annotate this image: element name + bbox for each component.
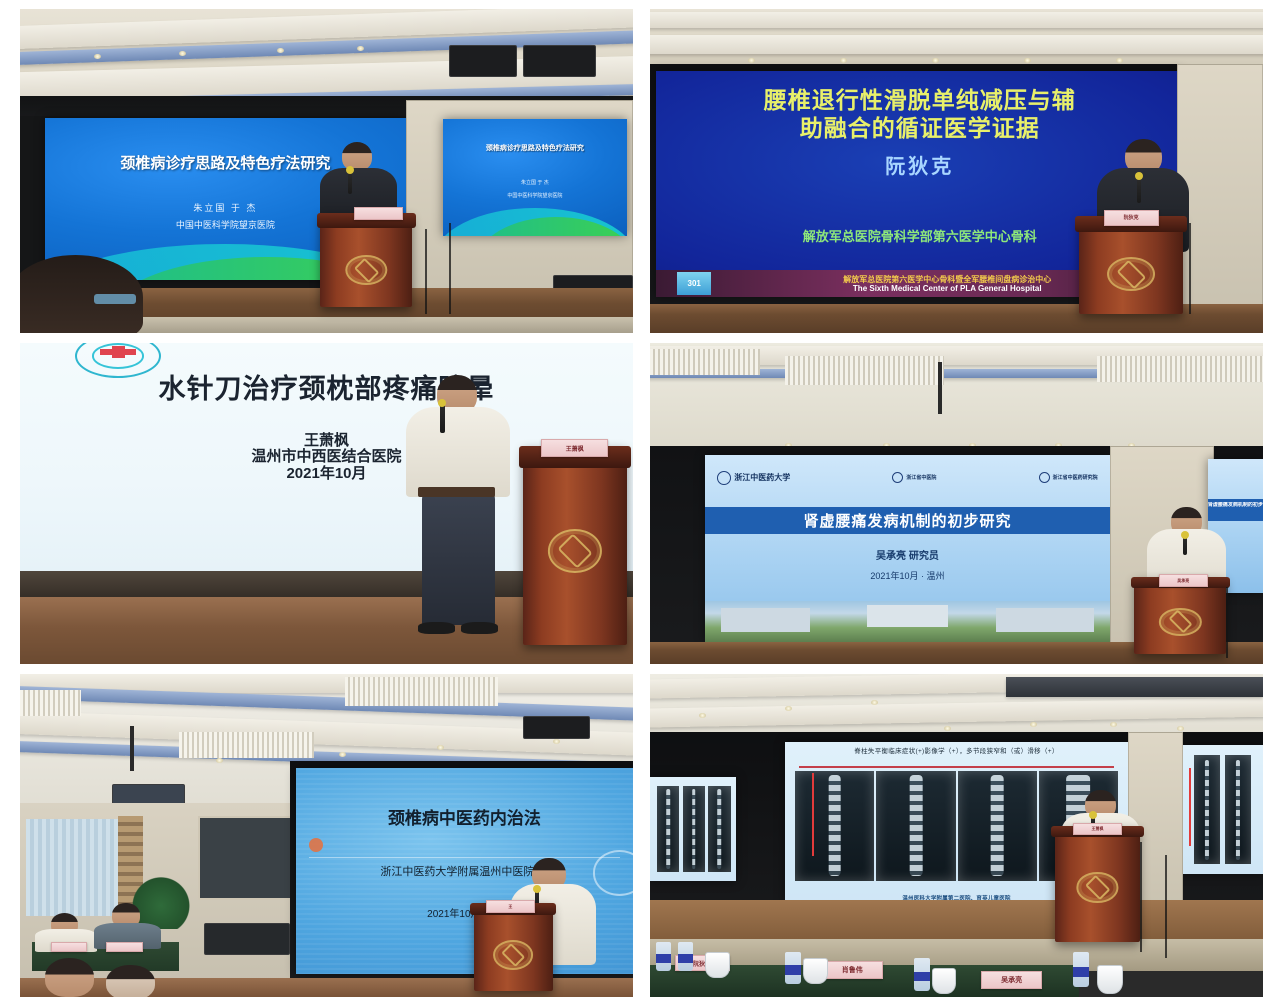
floor-speaker	[204, 923, 290, 955]
slide-title: 腰椎退行性滑脱单纯减压与辅 助融合的循证医学证据	[656, 86, 1183, 142]
water-bottle	[785, 952, 801, 984]
podium-namecard: 阮狄克	[1104, 210, 1159, 226]
cable	[1226, 587, 1257, 658]
podium-namecard: 吴承亮	[1159, 574, 1208, 587]
presenter-trousers	[422, 491, 496, 626]
slide-underline	[799, 766, 1115, 768]
podium	[474, 903, 554, 990]
side-monitor: 颈椎病诊疗思路及特色疗法研究 朱立国 于 杰 中国中医科学院望京医院	[443, 119, 627, 236]
ceiling-beam	[650, 35, 1263, 54]
ceiling-speaker	[523, 45, 597, 77]
slide-divider	[309, 857, 619, 858]
title-band: 肾虚腰痛发病机制的初步研究	[705, 507, 1110, 533]
photo-panel-2[interactable]: 腰椎退行性滑脱单纯减压与辅 助融合的循证医学证据 阮狄克 解放军总医院骨科学部第…	[650, 9, 1263, 333]
tea-cup	[803, 958, 828, 984]
belt	[418, 487, 495, 497]
window-curtain	[26, 819, 130, 916]
tea-cup	[1097, 965, 1123, 994]
ceiling-speaker	[523, 716, 590, 739]
microphone-icon	[348, 171, 352, 194]
photo-panel-3[interactable]: 水针刀治疗颈枕部疼痛眩晕 王萧枫 温州市中西医结合医院 2021年10月 王萧枫	[20, 343, 633, 664]
podium-namecard	[354, 207, 403, 220]
downlight-icon	[932, 58, 939, 63]
podium-emblem-icon	[1107, 257, 1155, 291]
ceiling-beam	[650, 12, 1263, 28]
side-monitor-title: 颈椎病诊疗思路及特色疗法研究	[443, 145, 627, 154]
podium-emblem-icon	[548, 529, 602, 573]
audience-namecard	[106, 942, 143, 952]
downlight-icon	[1116, 58, 1123, 63]
foreground-audience-head	[45, 958, 94, 997]
shoe	[418, 622, 455, 633]
photo-panel-1[interactable]: 颈椎病诊疗思路及特色疗法研究 朱立国 于 杰 中国中医科学院望京医院 颈椎病诊疗…	[20, 9, 633, 333]
downlight-icon	[748, 58, 755, 63]
ceiling-light-fixture	[20, 690, 81, 716]
downlight-icon	[699, 713, 706, 718]
audience-namecard	[51, 942, 88, 952]
downlight-icon	[339, 752, 346, 757]
podium	[523, 446, 627, 645]
podium-emblem-icon	[494, 940, 534, 970]
institute-logo-icon	[1039, 472, 1050, 483]
podium	[320, 213, 412, 307]
water-bottle	[656, 942, 671, 971]
table-namecard: 肖鲁伟	[822, 961, 883, 979]
ceiling-beam	[1006, 677, 1263, 696]
downlight-icon	[1024, 58, 1031, 63]
downlight-icon	[437, 745, 444, 750]
water-bottle	[678, 942, 693, 971]
slide-title: 颈椎病中医药内治法	[296, 809, 633, 830]
cable	[1189, 223, 1220, 314]
ceiling-speaker	[449, 45, 516, 77]
downlight-icon	[944, 726, 951, 731]
ceiling-light-fixture	[345, 677, 498, 706]
foreground-audience-head	[106, 965, 155, 997]
footer-badge: 301	[677, 272, 711, 295]
ceiling-light-fixture	[179, 732, 314, 758]
cable	[1165, 855, 1208, 958]
main-led-screen: 浙江中医药大学 浙江省中医院 浙江省中医药研究院 肾虚腰痛发病机制的初步研究 吴…	[705, 455, 1110, 641]
photo-collage: 颈椎病诊疗思路及特色疗法研究 朱立国 于 杰 中国中医科学院望京医院 颈椎病诊疗…	[0, 0, 1282, 1002]
eyeglasses-icon	[94, 294, 137, 304]
tea-cup	[932, 968, 957, 994]
podium-emblem-icon	[346, 255, 387, 285]
photo-panel-5[interactable]: 颈椎病中医药内治法 浙江中医药大学附属温州中医院 王 2021年10月16日 王	[20, 674, 633, 997]
ceiling-light-fixture	[650, 349, 760, 375]
microphone-icon	[440, 404, 445, 433]
left-wall-monitor	[650, 777, 736, 880]
university-logo-icon	[717, 471, 731, 485]
podium	[1079, 216, 1183, 313]
podium	[1055, 826, 1141, 942]
podium	[1134, 577, 1226, 654]
shoe	[461, 622, 498, 633]
podium-emblem-icon	[1077, 872, 1118, 902]
cable	[449, 223, 486, 314]
logo-label: 浙江省中医院	[906, 474, 936, 481]
campus-photo	[705, 601, 1110, 642]
slide-date: 2021年10月 · 温州	[705, 571, 1110, 583]
logo-label: 浙江中医药大学	[734, 472, 790, 483]
downlight-icon	[553, 739, 560, 744]
water-bottle	[914, 958, 930, 990]
side-monitor-affiliation: 中国中医科学院望京医院	[443, 193, 627, 200]
microphone-icon	[1137, 177, 1141, 203]
downlight-icon	[871, 700, 878, 705]
logo-label: 浙江省中医药研究院	[1053, 474, 1098, 481]
slide-title: 水针刀治疗颈枕部疼痛眩晕	[20, 373, 633, 406]
table-namecard: 吴承亮	[981, 971, 1042, 989]
podium-namecard: 王萧枫	[541, 439, 608, 457]
side-monitor-title: 肾虚腰痛发病机制的初步研究	[1208, 502, 1263, 509]
photo-panel-4[interactable]: 浙江中医药大学 浙江省中医院 浙江省中医药研究院 肾虚腰痛发病机制的初步研究 吴…	[650, 343, 1263, 664]
wall-panel	[198, 816, 296, 900]
potted-plant	[130, 871, 191, 929]
logo-row: 浙江中医药大学 浙江省中医院 浙江省中医药研究院	[717, 463, 1097, 493]
ceiling-light-fixture	[1097, 356, 1263, 382]
hanging-strap	[938, 362, 942, 413]
podium-namecard: 王萧枫	[1073, 823, 1122, 836]
hanging-strap	[130, 726, 134, 771]
podium-emblem-icon	[1159, 608, 1201, 636]
tea-cup	[705, 952, 730, 978]
water-bottle	[1073, 952, 1089, 988]
slide-affiliation: 浙江中医药大学附属温州中医院 王	[296, 865, 633, 879]
hospital-logo-icon	[892, 472, 903, 483]
photo-panel-6[interactable]: 脊柱失平衡临床症状(+)影像学（+），多节段狭窄和（或）滑移（+） 温州医科大学…	[650, 674, 1263, 997]
slide-presenter: 吴承亮 研究员	[705, 550, 1110, 563]
side-monitor-authors: 朱立国 于 杰	[443, 180, 627, 187]
ceiling-light-fixture	[785, 356, 944, 385]
slide-title: 肾虚腰痛发病机制的初步研究	[803, 510, 1011, 531]
downlight-icon	[840, 58, 847, 63]
microphone-icon	[1183, 536, 1187, 555]
downlight-icon	[1177, 726, 1184, 731]
presenter-body	[406, 407, 510, 497]
podium-namecard: 王	[486, 900, 535, 913]
slide-header: 脊柱失平衡临床症状(+)影像学（+），多节段狭窄和（或）滑移（+）	[785, 745, 1128, 755]
